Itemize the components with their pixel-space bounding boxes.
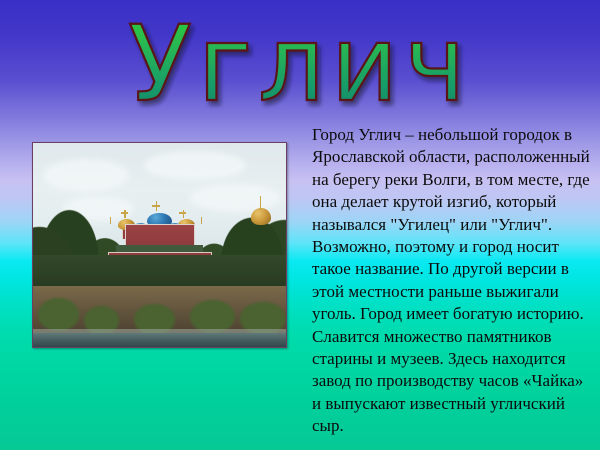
cloud-shape — [43, 159, 129, 192]
church-photo — [32, 142, 287, 348]
cross-icon — [152, 205, 161, 207]
photo-image — [33, 143, 286, 347]
slide-canvas: Углич — [0, 0, 600, 450]
body-paragraph: Город Углич – небольшой городок в Яросла… — [312, 124, 590, 438]
cross-icon — [260, 196, 261, 210]
cross-icon — [121, 212, 128, 213]
river-water — [33, 333, 286, 347]
cloud-shape — [144, 151, 245, 180]
bush-shape — [38, 298, 78, 331]
far-dome — [251, 208, 271, 224]
cross-icon — [201, 217, 202, 224]
wordart-title: Углич — [90, 8, 510, 126]
slide-body-text: Город Углич – небольшой городок в Яросла… — [312, 124, 590, 438]
cross-icon — [110, 217, 111, 224]
slide-title: Углич — [0, 8, 600, 128]
cross-icon — [179, 212, 186, 213]
wordart-title-text: Углич — [128, 8, 472, 125]
